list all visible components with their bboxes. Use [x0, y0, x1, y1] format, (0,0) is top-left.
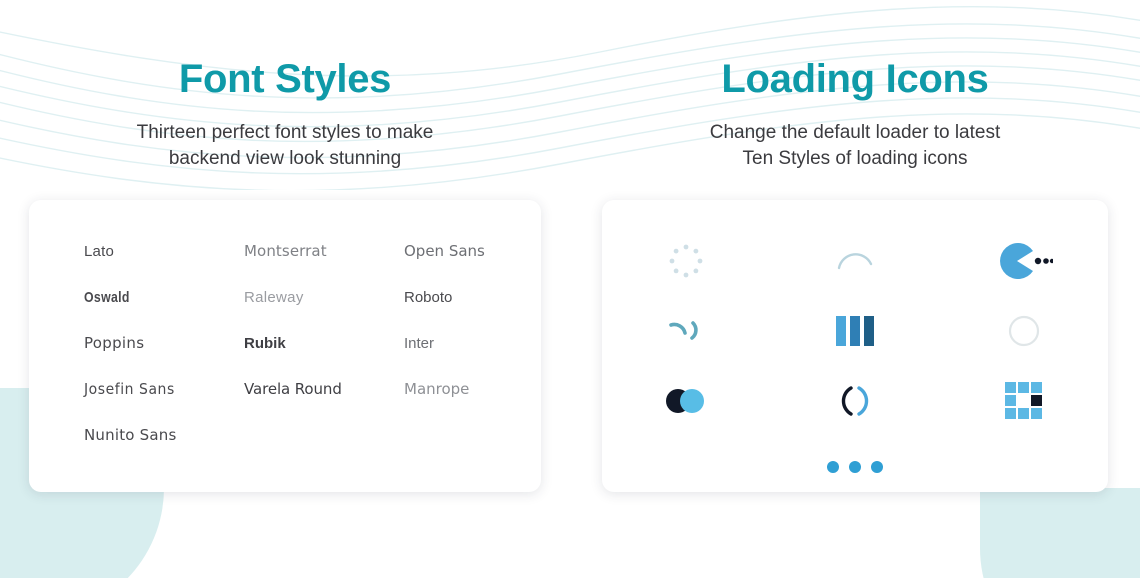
subtitle-line-2: backend view look stunning: [137, 146, 434, 172]
loader-cell-parentheses-spinner[interactable]: [771, 366, 940, 436]
panel-loading-icons: Loading Icons Change the default loader …: [570, 0, 1140, 578]
page-title-font-styles: Font Styles: [179, 59, 391, 99]
font-item-raleway[interactable]: Raleway: [244, 286, 404, 309]
loader-cell-split-arcs[interactable]: [602, 296, 771, 366]
font-item-open-sans[interactable]: Open Sans: [404, 240, 544, 263]
loader-cell-circle-outline[interactable]: [939, 296, 1108, 366]
three-bars-icon: [834, 314, 876, 348]
subtitle-font-styles: Thirteen perfect font styles to make bac…: [137, 120, 434, 172]
page-root: Font Styles Thirteen perfect font styles…: [0, 0, 1140, 578]
circle-outline-icon: [1007, 314, 1041, 348]
loader-cell-grid-squares[interactable]: [939, 366, 1108, 436]
loader-cell-two-overlapping-circles[interactable]: [602, 366, 771, 436]
font-item-manrope[interactable]: Manrope: [404, 378, 544, 401]
font-item-nunito-sans[interactable]: Nunito Sans: [84, 424, 244, 447]
parentheses-spinner-icon: [834, 381, 876, 421]
font-item-poppins[interactable]: Poppins: [84, 332, 244, 355]
loader-cell-three-dots[interactable]: [602, 436, 1108, 498]
spinner-dots-ring-icon: [666, 241, 706, 281]
pacman-icon: [995, 241, 1053, 281]
font-item-oswald[interactable]: Oswald: [84, 286, 215, 309]
font-item-roboto[interactable]: Roboto: [404, 286, 544, 309]
two-overlapping-circles-icon: [662, 385, 710, 417]
subtitle-line-2: Ten Styles of loading icons: [710, 146, 1000, 172]
panel-font-styles: Font Styles Thirteen perfect font styles…: [0, 0, 570, 578]
three-dots-icon: [825, 458, 885, 476]
loading-icons-grid: [602, 226, 1108, 498]
split-arcs-icon: [663, 311, 709, 351]
subtitle-line-1: Change the default loader to latest: [710, 120, 1000, 146]
loader-cell-pacman[interactable]: [939, 226, 1108, 296]
subtitle-loading-icons: Change the default loader to latest Ten …: [710, 120, 1000, 172]
font-item-josefin-sans[interactable]: Josefin Sans: [84, 378, 233, 401]
font-item-varela-round[interactable]: Varela Round: [244, 378, 404, 401]
loading-icons-card: [602, 200, 1108, 492]
loader-cell-spinner-dots-ring[interactable]: [602, 226, 771, 296]
loader-cell-three-bars[interactable]: [771, 296, 940, 366]
subtitle-line-1: Thirteen perfect font styles to make: [137, 120, 434, 146]
grid-squares-icon: [1005, 382, 1043, 420]
arc-ring-icon: [832, 238, 878, 284]
page-title-loading-icons: Loading Icons: [721, 59, 988, 99]
loader-cell-arc-ring[interactable]: [771, 226, 940, 296]
font-item-montserrat[interactable]: Montserrat: [244, 240, 404, 263]
font-item-rubik[interactable]: Rubik: [244, 332, 404, 355]
font-item-lato[interactable]: Lato: [84, 240, 244, 263]
font-item-inter[interactable]: Inter: [404, 332, 544, 355]
font-styles-card: Lato Montserrat Open Sans Oswald Raleway…: [29, 200, 541, 492]
font-styles-grid: Lato Montserrat Open Sans Oswald Raleway…: [29, 240, 541, 447]
